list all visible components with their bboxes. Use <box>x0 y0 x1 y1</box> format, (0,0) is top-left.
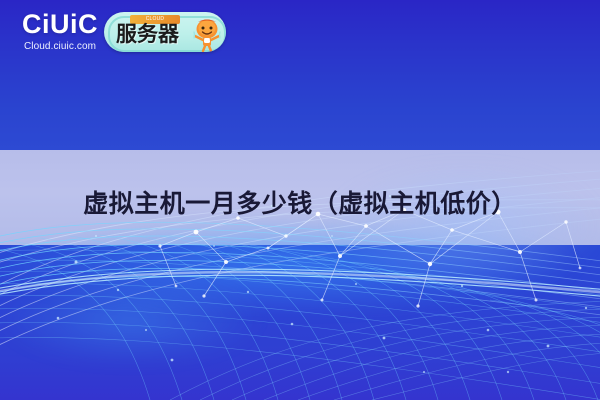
page-title: 虚拟主机一月多少钱（虚拟主机低价） <box>0 189 600 219</box>
promo-banner: CiUiC Cloud.ciuic.com CLOUD 服务器 虚拟主机一月多少… <box>0 0 600 400</box>
orange-mascot-icon <box>190 14 224 52</box>
server-badge: CLOUD 服务器 <box>104 12 226 52</box>
badge-label: 服务器 <box>116 21 192 47</box>
logo-domain: Cloud.ciuic.com <box>14 40 106 53</box>
logo-wordmark: CiUiC <box>14 9 106 39</box>
site-logo[interactable]: CiUiC Cloud.ciuic.com <box>14 9 106 53</box>
